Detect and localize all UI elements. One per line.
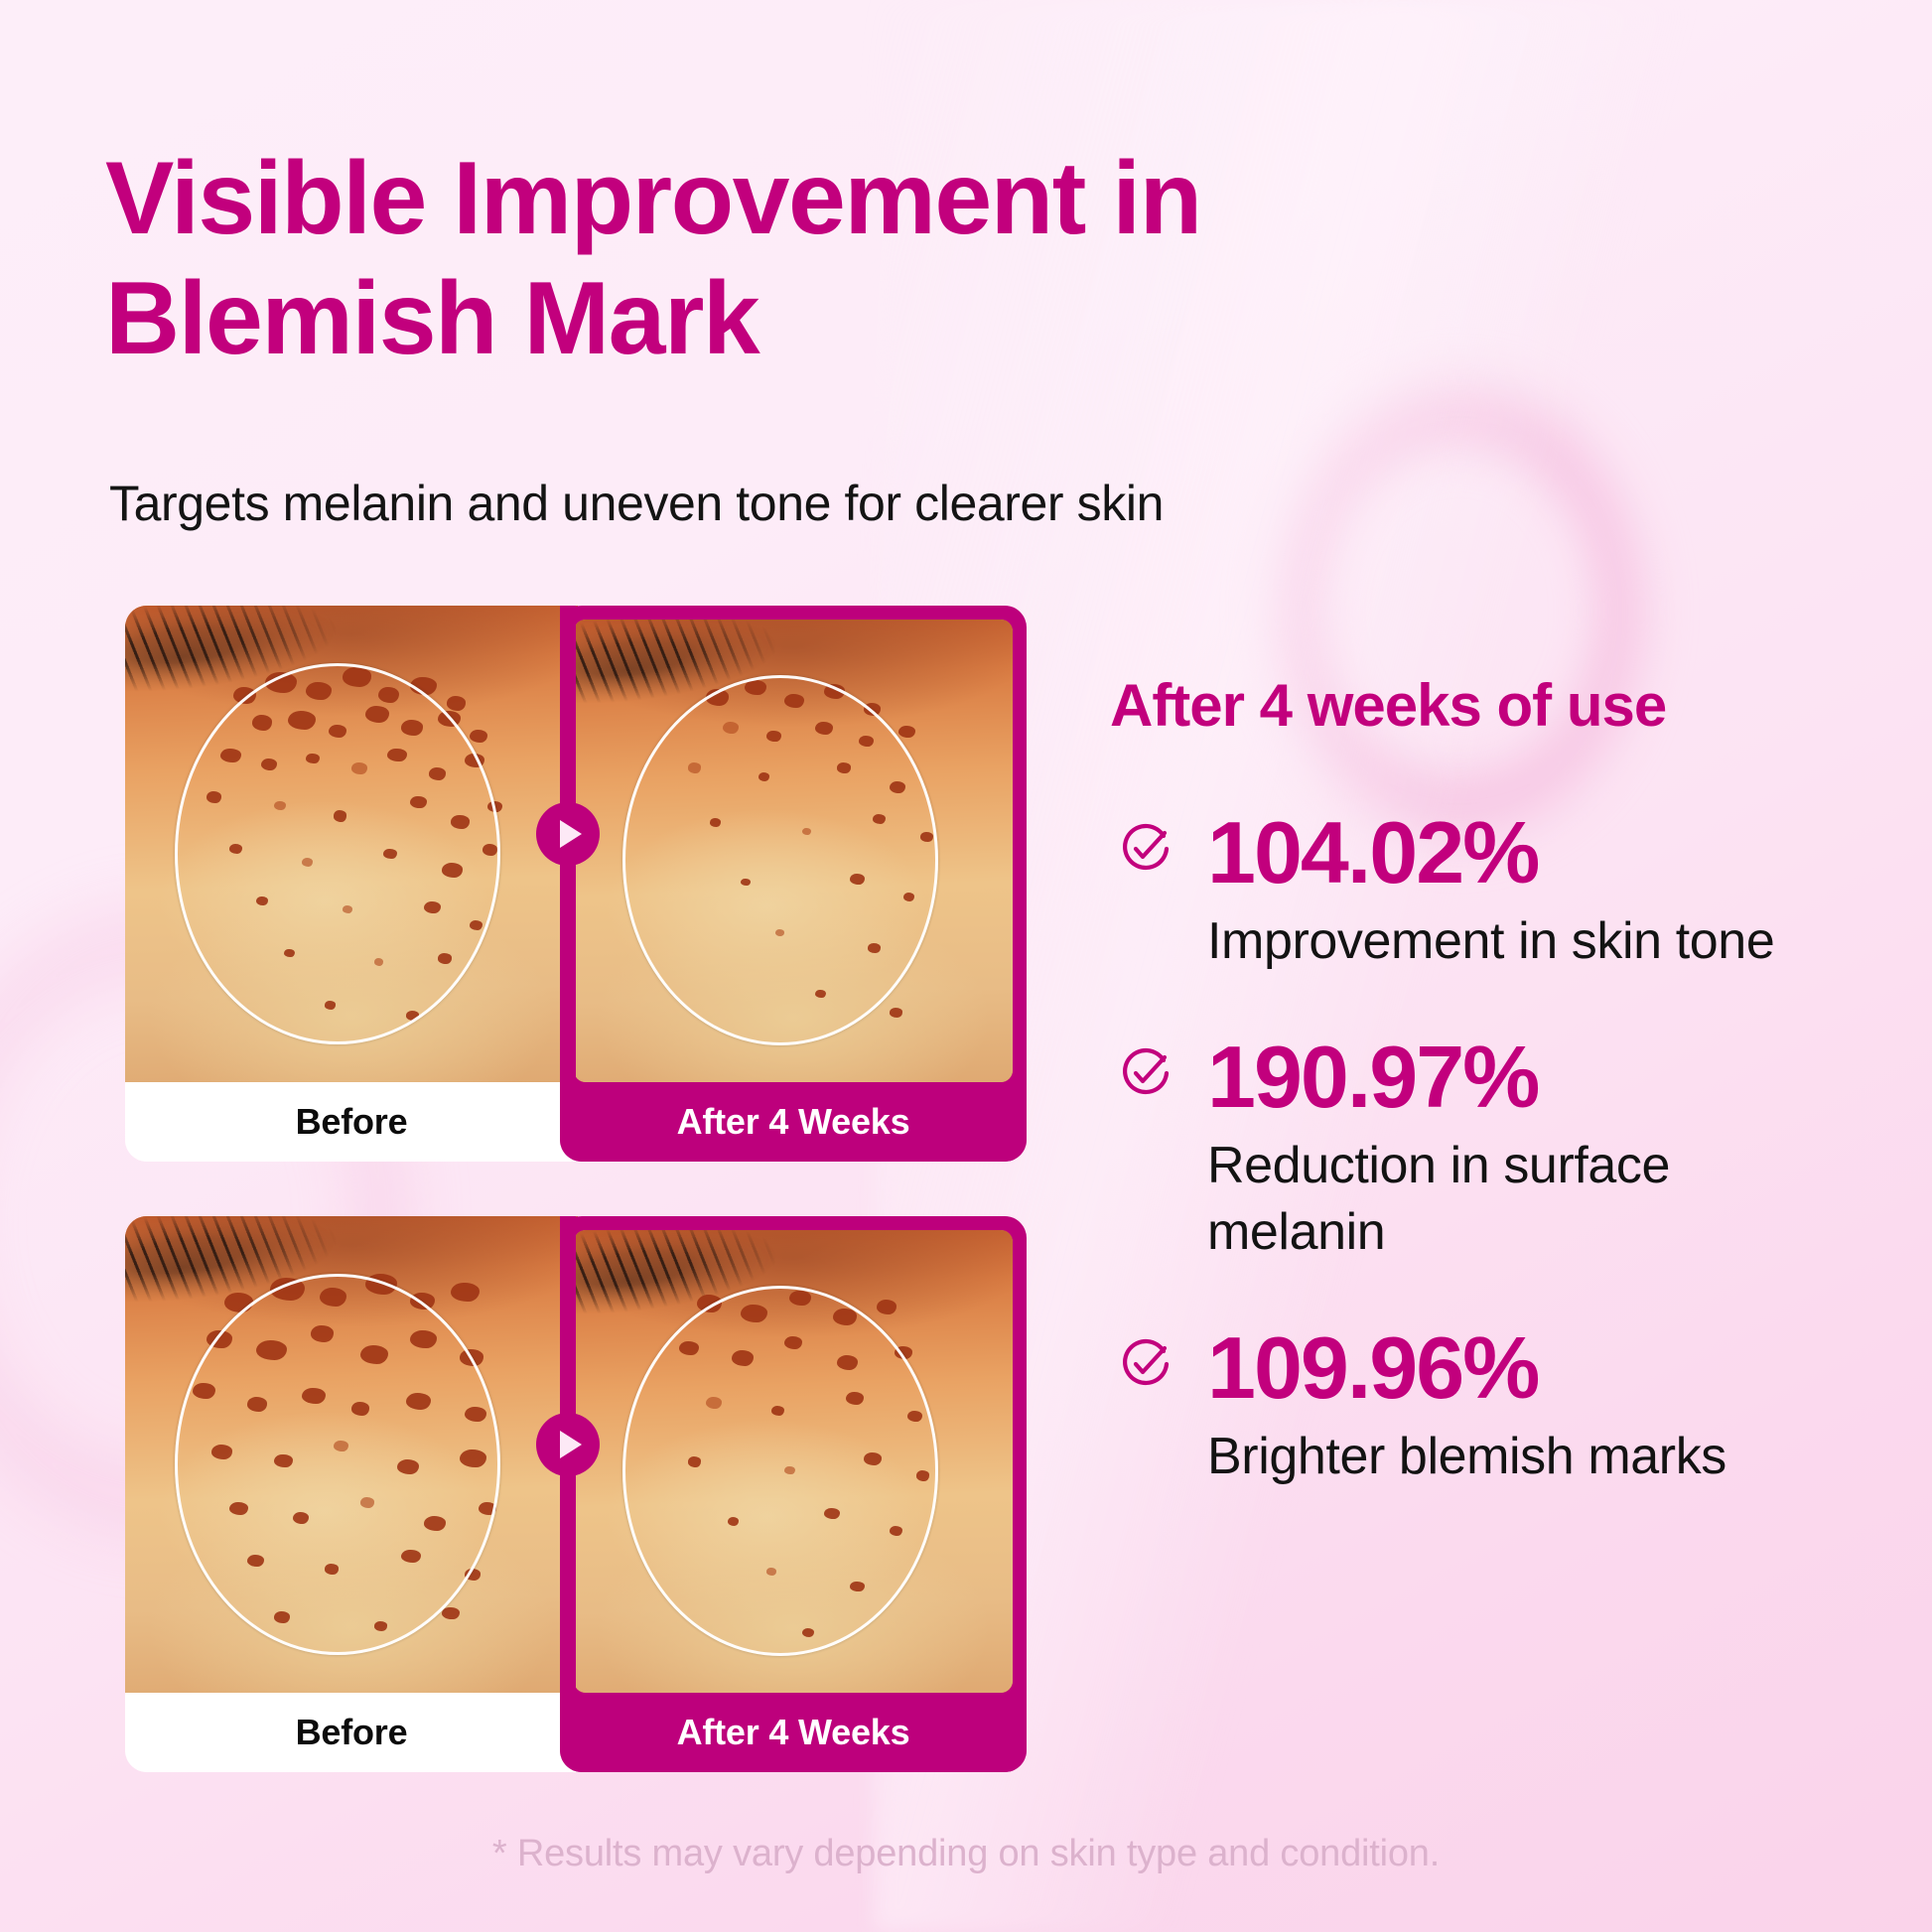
stat-item: 104.02% Improvement in skin tone	[1120, 809, 1855, 976]
play-icon[interactable]	[536, 1413, 600, 1476]
zoom-circle-overlay	[622, 1286, 938, 1656]
zoom-circle-overlay	[175, 1274, 500, 1655]
after-card[interactable]: After 4 Weeks	[560, 606, 1027, 1162]
stats-heading: After 4 weeks of use	[1110, 671, 1855, 740]
before-card[interactable]: Before	[125, 1216, 578, 1772]
zoom-circle-overlay	[622, 675, 938, 1045]
stat-description: Brighter blemish marks	[1207, 1424, 1855, 1491]
after-photo	[574, 1230, 1013, 1693]
after-photo	[574, 620, 1013, 1082]
play-triangle-icon	[560, 820, 582, 848]
after-card[interactable]: After 4 Weeks	[560, 1216, 1027, 1772]
before-label-strip: Before	[125, 1082, 578, 1162]
disclaimer-footnote: * Results may vary depending on skin typ…	[0, 1833, 1932, 1875]
stat-value: 190.97%	[1207, 1034, 1855, 1121]
stat-value: 104.02%	[1207, 809, 1855, 897]
before-label-strip: Before	[125, 1693, 578, 1772]
play-icon[interactable]	[536, 802, 600, 866]
before-photo	[125, 606, 578, 1082]
before-card[interactable]: Before	[125, 606, 578, 1162]
headline-line-2: Blemish Mark	[105, 261, 759, 376]
comparison-row: Before	[125, 606, 1027, 1162]
comparison-row: Before	[125, 1216, 1027, 1772]
after-label-strip: After 4 Weeks	[560, 1082, 1027, 1162]
check-circle-icon	[1120, 1338, 1172, 1390]
page-subtitle: Targets melanin and uneven tone for clea…	[109, 475, 1400, 532]
check-circle-icon	[1120, 823, 1172, 875]
before-photo	[125, 1216, 578, 1693]
headline-line-1: Visible Improvement in	[105, 141, 1201, 256]
after-label: After 4 Weeks	[677, 1712, 910, 1753]
after-label-strip: After 4 Weeks	[560, 1693, 1027, 1772]
stats-panel: After 4 weeks of use 104.02% Improvement…	[1120, 671, 1855, 1548]
play-triangle-icon	[560, 1431, 582, 1458]
stat-item: 190.97% Reduction in surface melanin	[1120, 1034, 1855, 1267]
infographic-page: Visible Improvement in Blemish Mark Targ…	[0, 0, 1932, 1932]
zoom-circle-overlay	[175, 663, 500, 1044]
stat-description: Improvement in skin tone	[1207, 908, 1855, 976]
before-label: Before	[296, 1712, 408, 1753]
stat-value: 109.96%	[1207, 1324, 1855, 1412]
page-title: Visible Improvement in Blemish Mark	[105, 139, 1336, 378]
stat-item: 109.96% Brighter blemish marks	[1120, 1324, 1855, 1491]
after-label: After 4 Weeks	[677, 1101, 910, 1143]
stat-description: Reduction in surface melanin	[1207, 1133, 1855, 1267]
before-label: Before	[296, 1101, 408, 1143]
check-circle-icon	[1120, 1047, 1172, 1099]
